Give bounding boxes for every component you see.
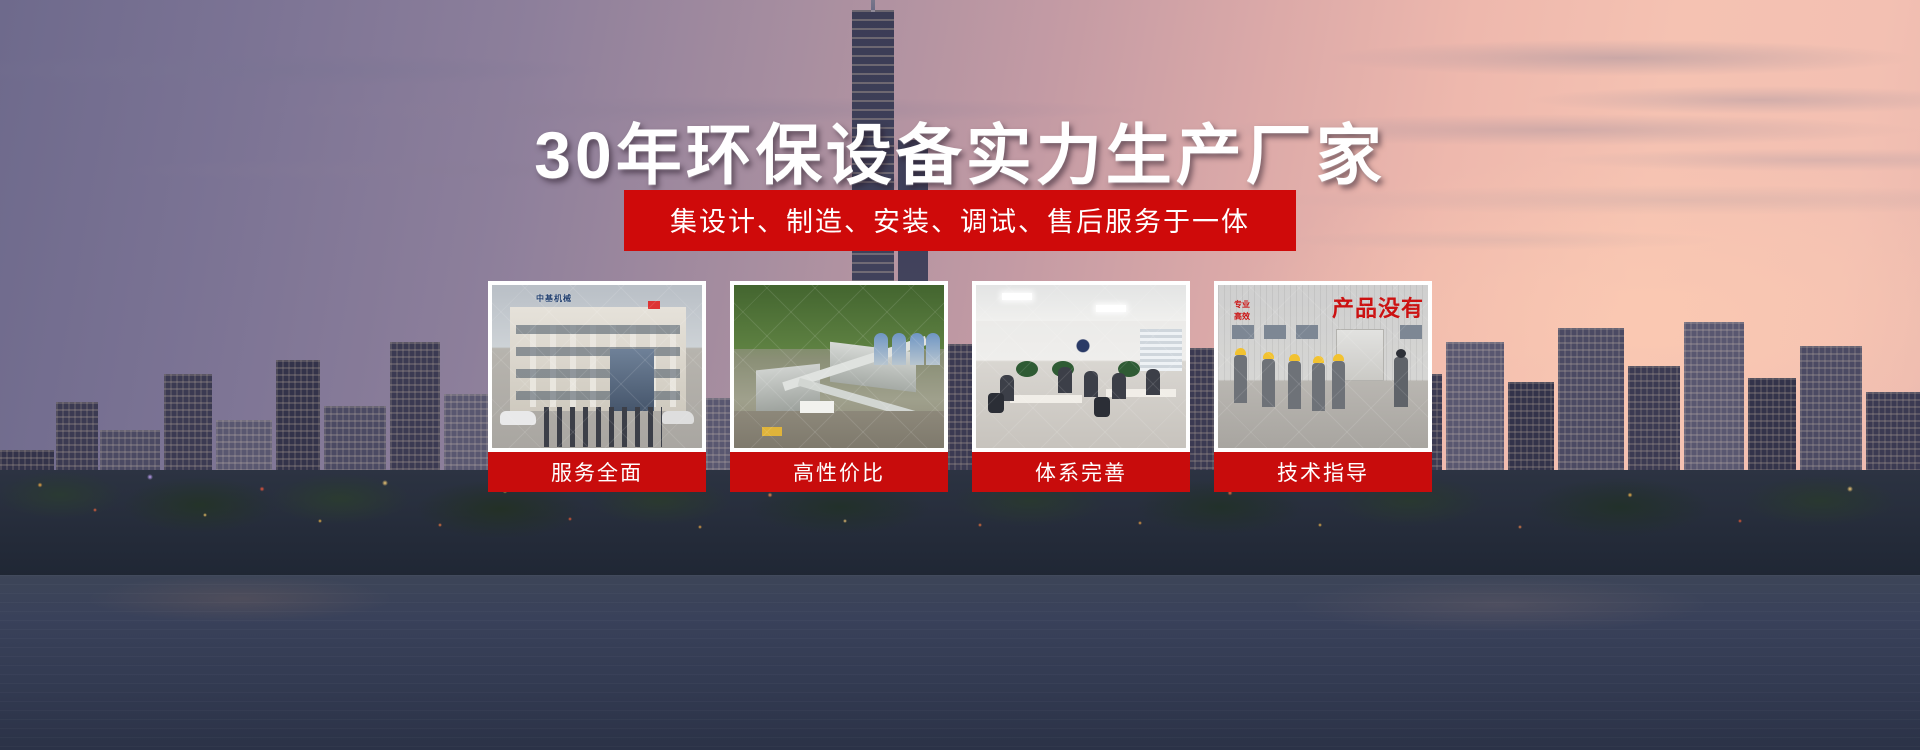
- page-title: 30年环保设备实力生产厂家: [0, 102, 1920, 198]
- feature-card-list: 中基机械 服务全面 高性价比: [488, 281, 1432, 492]
- card-caption: 技术指导: [1214, 452, 1432, 492]
- card-thumbnail-factory-workers: 产品没有 专业高效: [1218, 285, 1428, 448]
- card-thumbnail-office-building: 中基机械: [492, 285, 702, 448]
- card-caption: 服务全面: [488, 452, 706, 492]
- feature-card[interactable]: 体系完善: [972, 281, 1190, 492]
- subtitle-banner: 集设计、制造、安装、调试、售后服务于一体: [624, 190, 1296, 251]
- hero-banner: 30年环保设备实力生产厂家 集设计、制造、安装、调试、售后服务于一体 中基机械 …: [0, 0, 1920, 750]
- card-caption: 体系完善: [972, 452, 1190, 492]
- river-water: [0, 575, 1920, 750]
- card-thumbnail-industrial-plant: [734, 285, 944, 448]
- feature-card[interactable]: 高性价比: [730, 281, 948, 492]
- card-thumbnail-office-interior: [976, 285, 1186, 448]
- card-caption: 高性价比: [730, 452, 948, 492]
- factory-sign-text: 产品没有: [1332, 291, 1424, 323]
- feature-card[interactable]: 中基机械 服务全面: [488, 281, 706, 492]
- building-sign-text: 中基机械: [536, 293, 572, 304]
- feature-card[interactable]: 产品没有 专业高效 技术指导: [1214, 281, 1432, 492]
